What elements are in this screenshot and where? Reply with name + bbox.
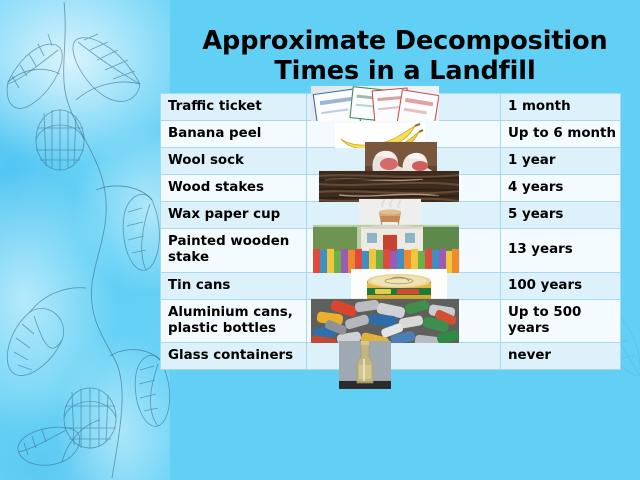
cell-time: 5 years bbox=[501, 202, 621, 229]
cell-time: 13 years bbox=[501, 229, 621, 272]
table-row: Wool sock bbox=[161, 148, 621, 175]
table-row: Aluminium cans, plastic bottles bbox=[161, 299, 621, 342]
table-row: Wood stakes bbox=[161, 175, 621, 202]
cell-item: Traffic ticket bbox=[161, 94, 307, 121]
table-row: Traffic ticket 1 month bbox=[161, 94, 621, 121]
cell-picture bbox=[307, 121, 501, 148]
cell-picture bbox=[307, 202, 501, 229]
cell-time: 1 month bbox=[501, 94, 621, 121]
cell-item: Wood stakes bbox=[161, 175, 307, 202]
cell-item: Wool sock bbox=[161, 148, 307, 175]
table-body: Traffic ticket 1 month bbox=[161, 94, 621, 370]
cell-item: Glass containers bbox=[161, 342, 307, 369]
cell-time: Up to 6 month bbox=[501, 121, 621, 148]
wool-sock-photo bbox=[365, 142, 437, 178]
painted-wooden-fence-photo bbox=[313, 225, 459, 275]
cell-item: Aluminium cans, plastic bottles bbox=[161, 299, 307, 342]
cell-time: 4 years bbox=[501, 175, 621, 202]
table-row: Banana peel bbox=[161, 121, 621, 148]
cell-picture bbox=[307, 299, 501, 342]
decomposition-table-wrapper: Traffic ticket 1 month bbox=[160, 93, 620, 480]
page-title: Approximate Decomposition Times in a Lan… bbox=[172, 27, 638, 87]
cell-time: never bbox=[501, 342, 621, 369]
cell-time: Up to 500 years bbox=[501, 299, 621, 342]
cell-time: 1 year bbox=[501, 148, 621, 175]
cell-item: Tin cans bbox=[161, 272, 307, 299]
table-row: Wax paper cup bbox=[161, 202, 621, 229]
table-row: Glass containers bbox=[161, 342, 621, 369]
cell-picture bbox=[307, 148, 501, 175]
cell-item: Painted wooden stake bbox=[161, 229, 307, 272]
table-row: Painted wooden stake bbox=[161, 229, 621, 272]
cell-picture bbox=[307, 272, 501, 299]
cell-picture bbox=[307, 175, 501, 202]
table-row: Tin cans bbox=[161, 272, 621, 299]
slide-canvas: Approximate Decomposition Times in a Lan… bbox=[0, 0, 640, 480]
cell-picture bbox=[307, 229, 501, 272]
cell-picture bbox=[307, 94, 501, 121]
decomposition-table: Traffic ticket 1 month bbox=[160, 93, 621, 370]
cell-item: Banana peel bbox=[161, 121, 307, 148]
cell-item: Wax paper cup bbox=[161, 202, 307, 229]
cell-time: 100 years bbox=[501, 272, 621, 299]
cell-picture bbox=[307, 342, 501, 369]
glass-bottle-photo bbox=[339, 341, 391, 389]
